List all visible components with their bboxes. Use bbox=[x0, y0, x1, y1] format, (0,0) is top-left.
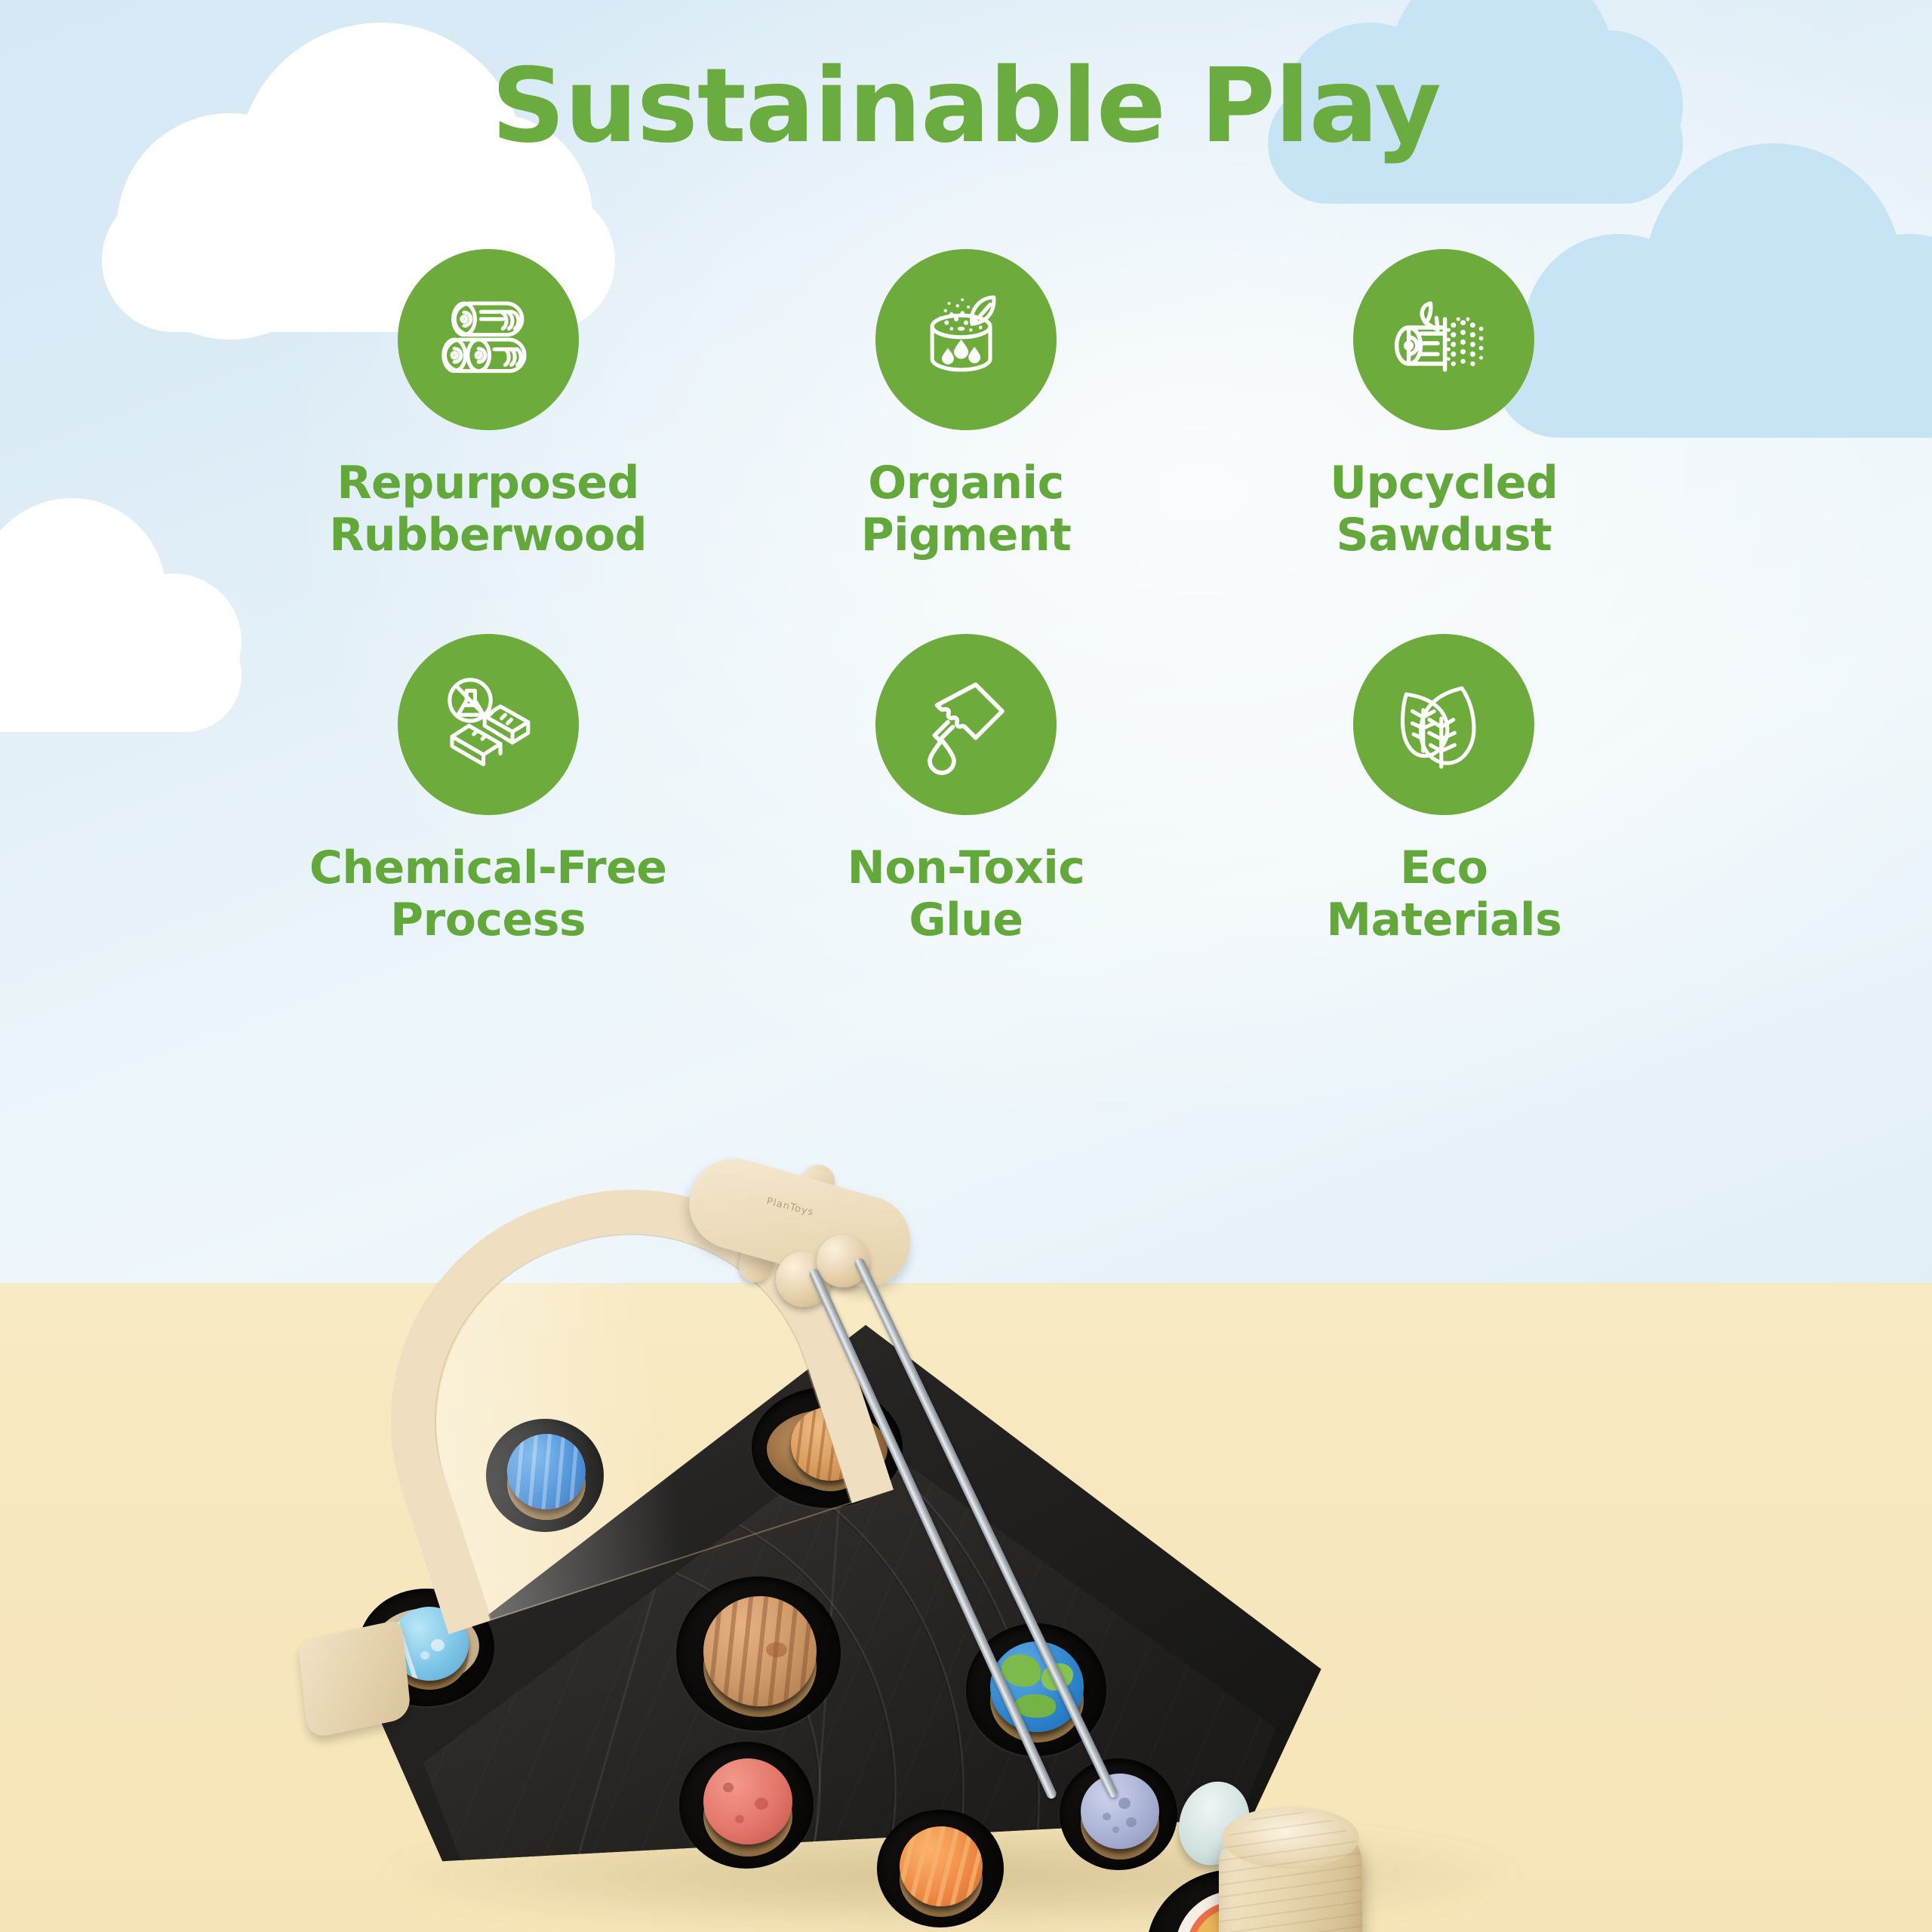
badge-eco-materials bbox=[1353, 634, 1534, 815]
badge-chemical-free-process bbox=[398, 634, 579, 815]
log-sawdust-icon bbox=[1383, 279, 1504, 400]
feature-chemical-free-process[interactable]: Chemical-Free Process bbox=[249, 634, 727, 1019]
feature-label: Eco Materials bbox=[1326, 842, 1561, 946]
feature-label: Repurposed Rubberwood bbox=[329, 457, 647, 561]
sustainability-feature-grid: Repurposed Rubberwood bbox=[249, 249, 1683, 1019]
two-leaves-icon bbox=[1383, 664, 1504, 785]
feature-eco-materials[interactable]: Eco Materials bbox=[1205, 634, 1683, 1019]
wooden-knob-handle[interactable] bbox=[1219, 1811, 1362, 1932]
badge-organic-pigment bbox=[875, 249, 1057, 430]
feature-label: Non-Toxic Glue bbox=[848, 842, 1085, 946]
pigment-jar-leaf-icon bbox=[906, 279, 1026, 400]
no-chemicals-planks-icon bbox=[428, 664, 549, 785]
page-title: Sustainable Play bbox=[0, 47, 1932, 166]
knob-wood-rings bbox=[1219, 1811, 1362, 1932]
feature-label: Chemical-Free Process bbox=[309, 842, 667, 946]
feature-upcycled-sawdust[interactable]: Upcycled Sawdust bbox=[1205, 249, 1683, 634]
feature-label: Upcycled Sawdust bbox=[1330, 457, 1558, 561]
feature-organic-pigment[interactable]: Organic Pigment bbox=[727, 249, 1204, 634]
badge-repurposed-rubberwood bbox=[398, 249, 579, 430]
product-photo-wooden-solar-system-toy: PlanToys bbox=[325, 1185, 1623, 1932]
badge-non-toxic-glue bbox=[875, 634, 1057, 815]
wood-logs-stack-icon bbox=[428, 279, 549, 400]
feature-repurposed-rubberwood[interactable]: Repurposed Rubberwood bbox=[249, 249, 727, 634]
feature-label: Organic Pigment bbox=[861, 457, 1072, 561]
badge-upcycled-sawdust bbox=[1353, 249, 1534, 430]
glue-bottle-drop-icon bbox=[906, 664, 1026, 785]
feature-non-toxic-glue[interactable]: Non-Toxic Glue bbox=[727, 634, 1204, 1019]
